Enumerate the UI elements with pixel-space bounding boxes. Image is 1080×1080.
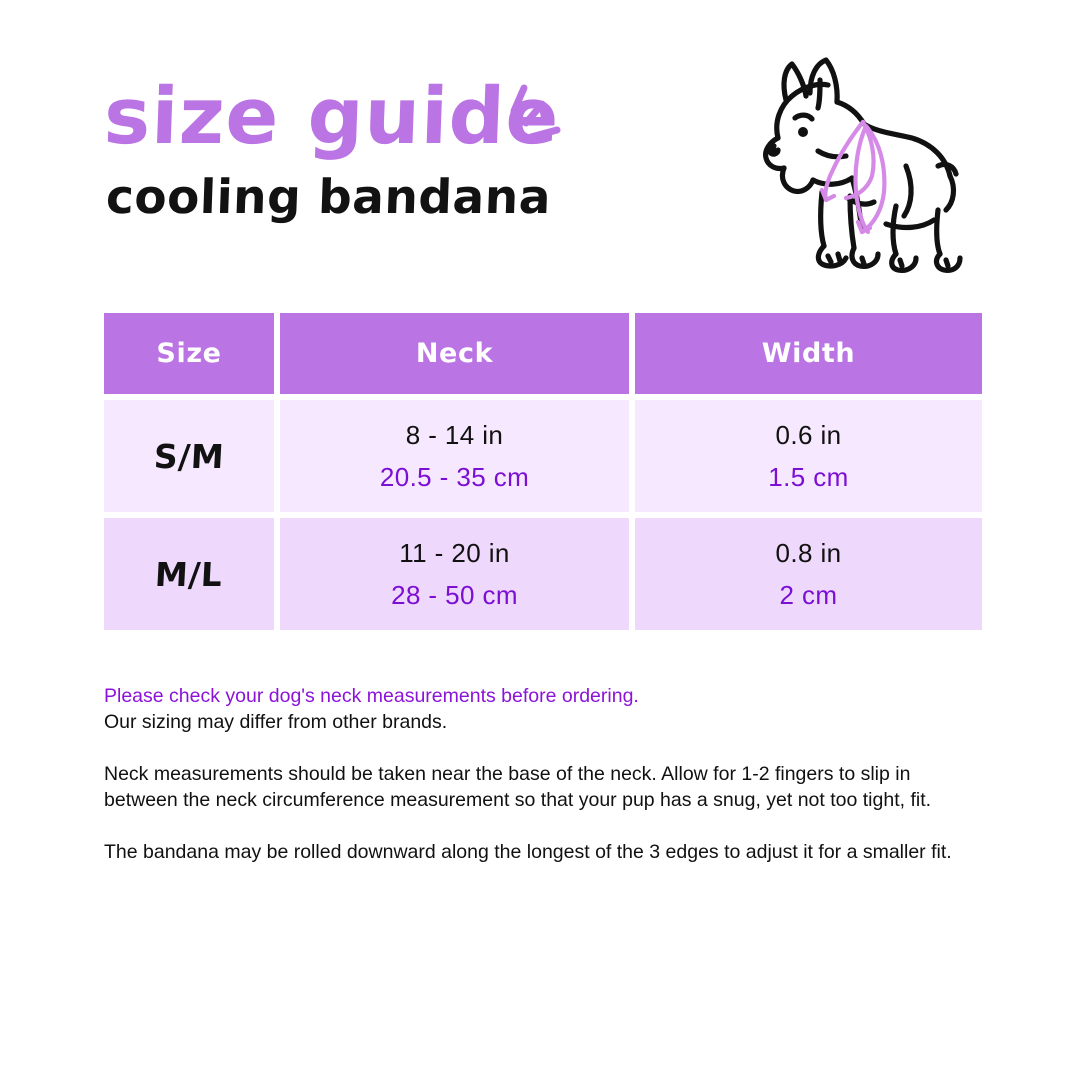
table-row: M/L 11 - 20 in 28 - 50 cm 0.8 in 2 cm — [104, 518, 976, 630]
page-title: size guide — [103, 78, 666, 156]
note-spacer — [104, 735, 984, 761]
table-cell-neck: 11 - 20 in 28 - 50 cm — [280, 518, 629, 630]
table-header-width-label: Width — [762, 338, 856, 369]
table-cell-size: S/M — [104, 400, 274, 512]
table-header-width: Width — [635, 313, 982, 394]
notes-section: Please check your dog's neck measurement… — [104, 683, 984, 865]
table-cell-width: 0.8 in 2 cm — [635, 518, 982, 630]
note-spacer — [104, 813, 984, 839]
page-subtitle: cooling bandana — [105, 174, 665, 221]
size-label: S/M — [153, 437, 225, 476]
note-paragraph-measuring: Neck measurements should be taken near t… — [104, 761, 984, 813]
width-value-inches: 0.6 in — [775, 420, 841, 451]
table-header-neck-label: Neck — [416, 338, 493, 369]
size-guide-table: Size Neck Width S/M 8 - 14 in 20.5 - 35 … — [104, 313, 976, 630]
table-cell-width: 0.6 in 1.5 cm — [635, 400, 982, 512]
table-header-neck: Neck — [280, 313, 629, 394]
width-value-cm: 2 cm — [780, 580, 838, 611]
table-cell-neck: 8 - 14 in 20.5 - 35 cm — [280, 400, 629, 512]
table-header-row: Size Neck Width — [104, 313, 976, 394]
table-header-size: Size — [104, 313, 274, 394]
size-label: M/L — [154, 555, 223, 594]
neck-value-inches: 11 - 20 in — [399, 538, 509, 569]
note-accent-line: Please check your dog's neck measurement… — [104, 683, 984, 709]
table-row: S/M 8 - 14 in 20.5 - 35 cm 0.6 in 1.5 cm — [104, 400, 976, 512]
neck-value-cm: 20.5 - 35 cm — [380, 462, 529, 493]
note-paragraph-rolling: The bandana may be rolled downward along… — [104, 839, 984, 865]
title-group: size guide cooling bandana — [104, 78, 664, 221]
note-plain-line: Our sizing may differ from other brands. — [104, 709, 984, 735]
width-value-inches: 0.8 in — [775, 538, 841, 569]
table-cell-size: M/L — [104, 518, 274, 630]
neck-value-inches: 8 - 14 in — [406, 420, 504, 451]
table-header-size-label: Size — [156, 338, 221, 369]
width-value-cm: 1.5 cm — [768, 462, 848, 493]
header-area: size guide cooling bandana — [0, 0, 1080, 300]
neck-value-cm: 28 - 50 cm — [391, 580, 518, 611]
french-bulldog-measurement-illustration — [700, 46, 986, 282]
